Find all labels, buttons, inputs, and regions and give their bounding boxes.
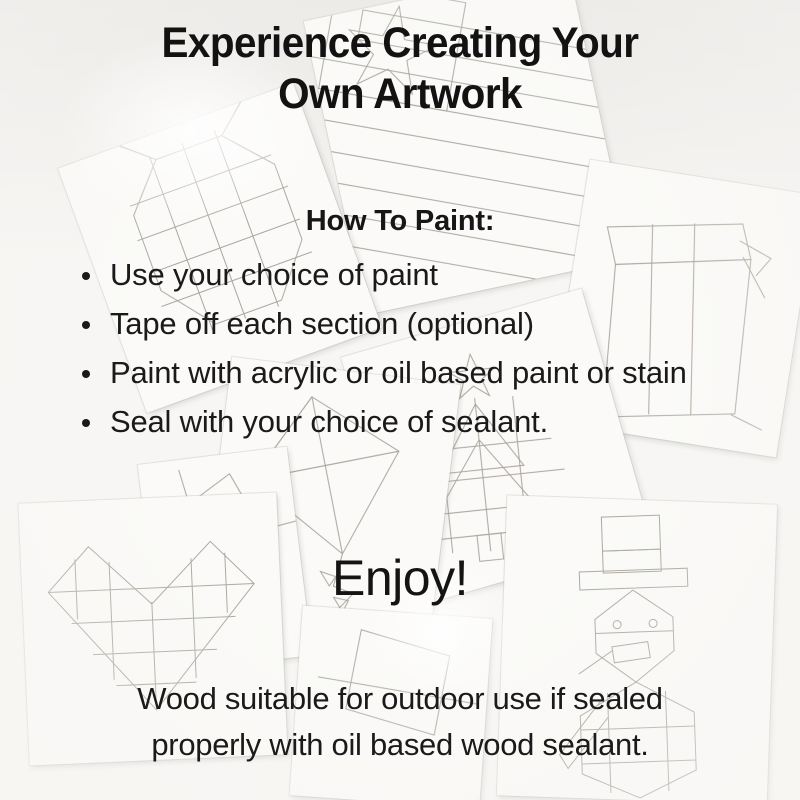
list-item: Tape off each section (optional) <box>78 299 778 348</box>
enjoy-text: Enjoy! <box>0 548 800 608</box>
list-item: Paint with acrylic or oil based paint or… <box>78 348 778 397</box>
bullet-dot-icon <box>82 321 90 329</box>
footer-line-1: Wood suitable for outdoor use if sealed <box>0 676 800 722</box>
bullet-dot-icon <box>82 272 90 280</box>
list-item: Seal with your choice of sealant. <box>78 397 778 446</box>
list-item-label: Paint with acrylic or oil based paint or… <box>110 355 687 390</box>
instructions-list: Use your choice of paint Tape off each s… <box>78 250 778 446</box>
title-line-2: Own Artwork <box>24 69 776 120</box>
poster-canvas: Experience Creating Your Own Artwork How… <box>0 0 800 800</box>
footer-note: Wood suitable for outdoor use if sealed … <box>0 676 800 768</box>
title-line-1: Experience Creating Your <box>24 18 776 69</box>
list-item-label: Seal with your choice of sealant. <box>110 404 548 439</box>
bullet-dot-icon <box>82 370 90 378</box>
list-item: Use your choice of paint <box>78 250 778 299</box>
list-item-label: Tape off each section (optional) <box>110 306 534 341</box>
text-overlay: Experience Creating Your Own Artwork How… <box>0 0 800 800</box>
footer-line-2: properly with oil based wood sealant. <box>0 722 800 768</box>
bullet-dot-icon <box>82 419 90 427</box>
list-item-label: Use your choice of paint <box>110 257 438 292</box>
how-to-paint-heading: How To Paint: <box>0 204 800 238</box>
page-title: Experience Creating Your Own Artwork <box>24 18 776 120</box>
